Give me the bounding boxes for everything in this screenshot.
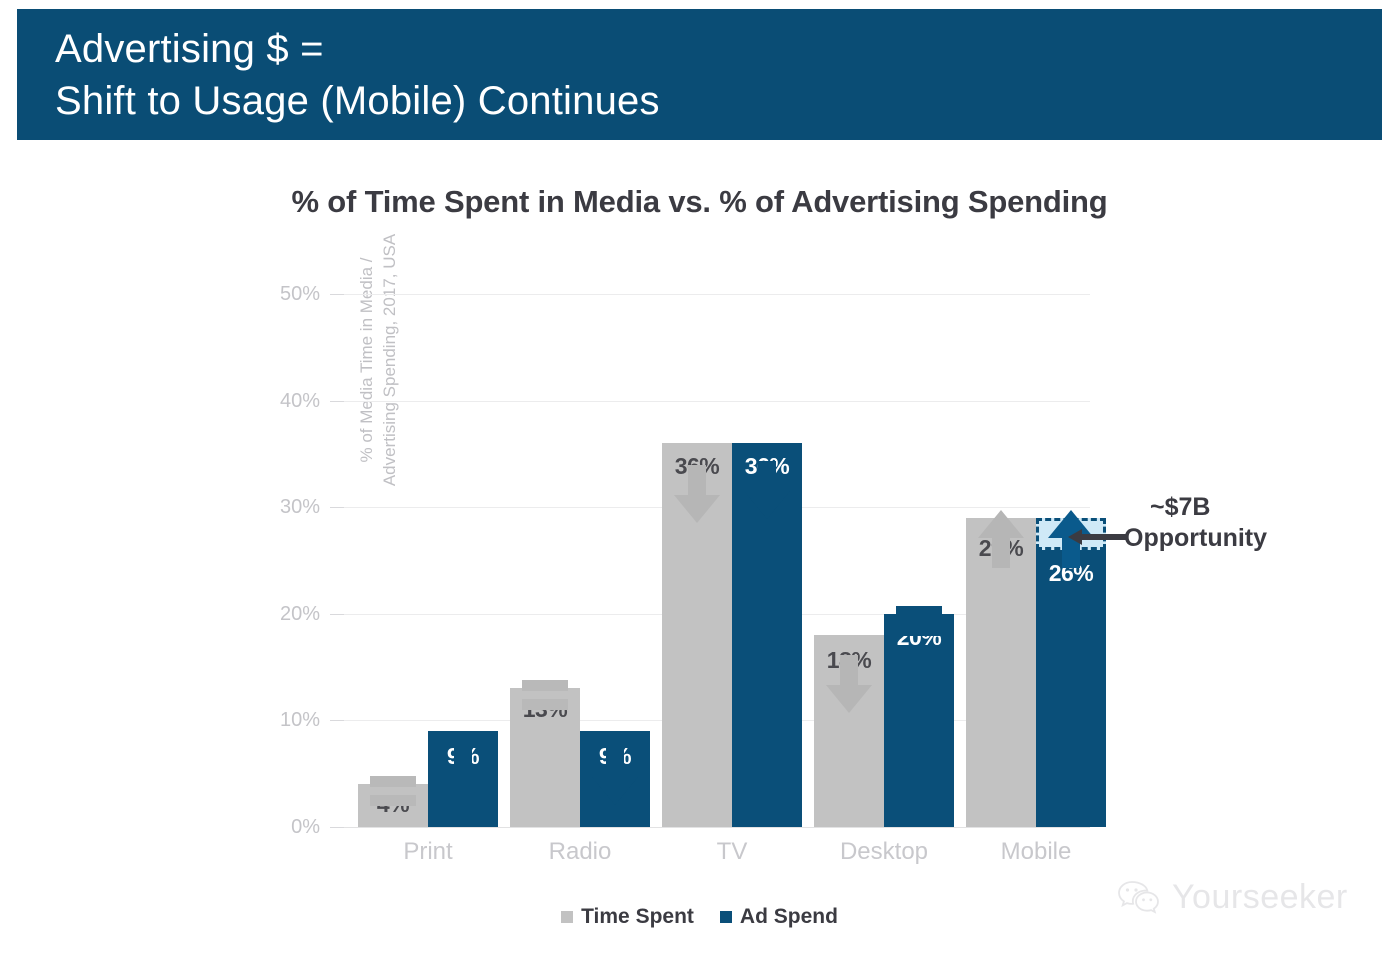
y-tick-label-50: 50% [248,283,320,306]
legend-swatch-icon [561,911,573,923]
chart-plot-area: % of Media Time in Media / Advertising S… [0,0,1399,960]
bar-group-print: 4% 9% [358,294,498,827]
bar-tv-ad-spend[interactable]: 36% [732,443,802,827]
y-tick-label-10: 10% [248,709,320,732]
arrow-down-icon [440,747,486,805]
watermark-text: Yourseeker [1172,878,1348,917]
x-label-desktop: Desktop [814,838,954,866]
bar-group-mobile: 29% 26% [966,294,1106,827]
legend-label-time-spent: Time Spent [581,905,694,929]
bar-group-desktop: 18% 20% [814,294,954,827]
y-tick-label-20: 20% [248,603,320,626]
x-axis-labels: Print Radio TV Desktop Mobile [330,838,1090,872]
equals-icon [522,680,568,714]
y-tick-label-30: 30% [248,496,320,519]
bar-desktop-ad-spend[interactable]: 20% [884,614,954,827]
x-label-mobile: Mobile [966,838,1106,866]
x-label-tv: TV [662,838,802,866]
y-tick-label-0: 0% [248,816,320,839]
bar-print-time-spent[interactable]: 4% [358,784,428,827]
x-label-print: Print [358,838,498,866]
watermark: Yourseeker [1118,878,1348,917]
bar-desktop-time-spent[interactable]: 18% [814,635,884,827]
callout-arrow-icon [1068,529,1126,545]
bar-radio-time-spent[interactable]: 13% [510,688,580,827]
x-label-radio: Radio [510,838,650,866]
bar-group-tv: 36% 36% [662,294,802,827]
wechat-icon [1118,880,1162,916]
bar-series-container: 4% 9% 13% [330,294,1090,827]
bar-mobile-time-spent[interactable]: 29% [966,518,1036,827]
opportunity-amount: ~$7B [1124,492,1374,523]
arrow-down-icon [592,747,638,805]
bar-mobile-ad-spend[interactable]: 26% [1036,550,1106,827]
arrow-down-icon [674,465,720,523]
legend-swatch-icon [720,911,732,923]
bar-tv-time-spent[interactable]: 36% [662,443,732,827]
legend-item-ad-spend[interactable]: Ad Spend [720,905,838,929]
equals-icon [370,776,416,810]
gridline-0 [330,827,1090,828]
equals-icon [896,606,942,640]
y-tick-mark-0 [330,827,344,828]
opportunity-callout: ~$7B Opportunity [1124,492,1374,554]
legend-item-time-spent[interactable]: Time Spent [561,905,694,929]
arrow-up-icon [978,510,1024,568]
y-tick-label-40: 40% [248,390,320,413]
bar-radio-ad-spend[interactable]: 9% [580,731,650,827]
bar-print-ad-spend[interactable]: 9% [428,731,498,827]
opportunity-label: Opportunity [1124,523,1374,554]
bar-group-radio: 13% 9% [510,294,650,827]
legend-label-ad-spend: Ad Spend [740,905,838,929]
arrow-down-icon [744,461,790,519]
arrow-down-icon [826,655,872,713]
